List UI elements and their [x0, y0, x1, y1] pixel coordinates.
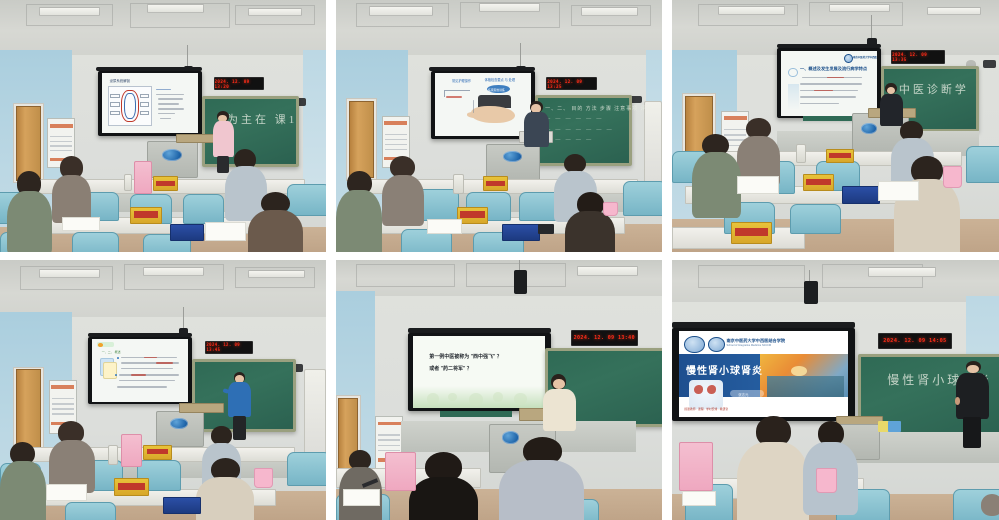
- classroom-scene-5: 第一例中医被称为 "西中强飞" ？ 或者 "药二将军" ？ 2024. 12. …: [336, 260, 662, 520]
- blue-notebook: [502, 224, 540, 241]
- projector: [804, 281, 817, 304]
- led-clock-4: 2024. 12. 09 13:45: [205, 341, 253, 355]
- led-clock-text: 2024. 12. 09 14:05: [883, 338, 946, 344]
- audience-person: [564, 192, 616, 252]
- water-bottle: [453, 174, 463, 194]
- photo-panel-4[interactable]: 一、二、 概述 2024. 12. 09 13:4: [0, 260, 326, 520]
- board-chalk-text-2: 一、二、 目的 方法 步骤 注意事项 评分: [545, 105, 652, 112]
- audience-person: [336, 171, 382, 252]
- slide-surface: 常见护理操作 体格检查要点 与 处理 临床思维训练: [435, 73, 531, 136]
- chair: [287, 452, 326, 485]
- led-clock-1: 2024. 12. 09 13:20: [214, 77, 265, 90]
- podium-desktop: [179, 403, 223, 413]
- audience-person: [737, 118, 780, 184]
- audience-person: [0, 442, 46, 520]
- projection-screen-2: 常见护理操作 体格检查要点 与 处理 临床思维训练: [431, 71, 535, 139]
- water-bottle: [796, 144, 806, 164]
- papers: [343, 489, 381, 507]
- pink-cup: [816, 468, 838, 493]
- air-conditioner: [644, 101, 662, 184]
- pink-tote-bag: [385, 452, 416, 490]
- stage-front-board: [440, 411, 512, 418]
- notebook: [682, 491, 717, 506]
- led-clock-text: 2024. 12. 09 13:45: [206, 342, 252, 352]
- projector-arm: [520, 43, 521, 68]
- led-clock-6: 2024. 12. 09 14:05: [878, 333, 952, 349]
- name-card: [130, 207, 161, 224]
- slide-speaker-text: 张志元: [738, 392, 748, 397]
- audience-person: [248, 192, 303, 252]
- projector-arm: [183, 307, 184, 330]
- photo-panel-5[interactable]: 第一例中医被称为 "西中强飞" ？ 或者 "药二将军" ？ 2024. 12. …: [336, 260, 662, 520]
- kidney-graphic: [689, 380, 723, 409]
- air-conditioner: [304, 369, 326, 454]
- papers: [62, 217, 100, 232]
- chair: [966, 146, 999, 183]
- podium-2: [486, 144, 540, 181]
- audience-person: [339, 450, 381, 520]
- audience-person: [196, 458, 255, 520]
- slide-question-line-1: 第一例中医被称为 "西中强飞" ？: [429, 353, 502, 360]
- name-card: [483, 176, 508, 191]
- slide-footer-text: 授课教师 · 课程 · 学时安排 · 教研室: [684, 407, 728, 411]
- slide-main-title: 慢性肾小球肾炎: [686, 362, 763, 377]
- papers: [427, 219, 462, 234]
- classroom-scene-3: 南京中医药大学中西医结合学院 一、概述及发生发展及流行病学特点 2024. 12…: [672, 0, 999, 252]
- classroom-door[interactable]: [16, 106, 41, 181]
- podium-emblem: [503, 151, 523, 162]
- board-chalk-text-3: 中医诊断学: [899, 81, 969, 97]
- speech-bubble: 临床思维训练: [487, 85, 510, 93]
- led-clock-5: 2024. 12. 09 13:40: [571, 330, 638, 346]
- chair: [183, 194, 224, 224]
- projector: [514, 270, 527, 293]
- slide-title-text-2: 常见护理操作: [452, 78, 471, 83]
- pink-tote-bag: [134, 161, 152, 193]
- name-card: [803, 174, 834, 191]
- audience-person: [692, 134, 741, 215]
- university-crest: [684, 336, 705, 353]
- classroom-scene-2: 常见护理操作 体格检查要点 与 处理 临床思维训练 2024. 12. 09 1…: [336, 0, 662, 252]
- projection-screen-5: 第一例中医被称为 "西中强飞" ？ 或者 "药二将军" ？: [408, 333, 551, 411]
- classroom-door[interactable]: [16, 369, 41, 449]
- papers: [46, 484, 87, 502]
- pink-tote-bag: [679, 442, 714, 491]
- led-clock-2: 2024. 12. 09 13:25: [546, 77, 597, 90]
- audience-person: [49, 421, 95, 491]
- pink-tote-bag: [121, 434, 143, 467]
- slide-subtitle-text-2: 体格检查要点 与 处理: [485, 77, 515, 82]
- classroom-scene-1: 泌尿系统解剖: [0, 0, 326, 252]
- blue-notebook: [842, 186, 880, 203]
- audience-person: [408, 452, 480, 520]
- slide-org-text: 南京中医药大学中西医结合学院: [853, 55, 877, 59]
- photo-panel-1[interactable]: 泌尿系统解剖: [0, 0, 326, 252]
- presenter-3: [878, 83, 904, 123]
- audience-person: [7, 171, 53, 252]
- led-clock-text: 2024. 12. 09 13:35: [892, 52, 944, 62]
- chair: [72, 232, 120, 252]
- photo-panel-2[interactable]: 常见护理操作 体格检查要点 与 处理 临床思维训练 2024. 12. 09 1…: [336, 0, 662, 252]
- slide-surface: 南京中医药大学中西医结合学院 School of Integrative Med…: [679, 331, 847, 417]
- presenter-5: [541, 374, 577, 426]
- podium-emblem: [170, 418, 188, 429]
- chair: [65, 502, 116, 520]
- water-bottle: [124, 174, 133, 191]
- name-card: [143, 445, 171, 460]
- name-card: [114, 478, 149, 496]
- papers: [205, 222, 246, 242]
- classroom-scene-4: 一、二、 概述 2024. 12. 09 13:4: [0, 260, 326, 520]
- name-card: [731, 222, 772, 244]
- photo-panel-6[interactable]: 南京中医药大学中西医结合学院 School of Integrative Med…: [672, 260, 999, 520]
- pink-cup: [254, 468, 272, 488]
- slide-title-text-3: 一、概述及发生发展及流行病学特点: [800, 66, 867, 72]
- papers: [878, 181, 919, 201]
- podium-emblem: [861, 123, 878, 134]
- side-wall-blue-right: [303, 50, 326, 196]
- slide-surface: 泌尿系统解剖: [102, 73, 198, 133]
- pink-cup: [603, 202, 618, 217]
- presenter-6: [953, 361, 992, 447]
- camera: [983, 60, 996, 68]
- projector-arm: [871, 15, 872, 40]
- projection-screen-3: 南京中医药大学中西医结合学院 一、概述及发生发展及流行病学特点: [777, 48, 882, 119]
- chair: [623, 181, 662, 216]
- blue-notebook: [170, 224, 205, 241]
- photo-grid: 泌尿系统解剖: [0, 0, 999, 512]
- pink-cup: [943, 166, 961, 188]
- audience-person: [737, 416, 809, 520]
- screen-roller: [672, 322, 855, 327]
- projection-screen-1: 泌尿系统解剖: [98, 71, 202, 137]
- audience-person: [52, 156, 91, 222]
- led-clock-text: 2024. 12. 09 13:20: [215, 79, 264, 89]
- led-clock-text: 2024. 12. 09 13:25: [547, 79, 596, 89]
- projector-arm: [187, 45, 188, 68]
- phone: [538, 224, 554, 234]
- photo-panel-3[interactable]: 南京中医药大学中西医结合学院 一、概述及发生发展及流行病学特点 2024. 12…: [672, 0, 999, 252]
- audience-person: [499, 437, 584, 520]
- classroom-scene-6: 南京中医药大学中西医结合学院 School of Integrative Med…: [672, 260, 999, 520]
- slide-title-text-1: 泌尿系统解剖: [110, 78, 130, 83]
- slide-callout-text: 临床思维训练: [488, 88, 505, 92]
- chair: [790, 204, 841, 234]
- ceiling: [336, 260, 662, 302]
- slide-section-text-4: 一、二、 概述: [102, 350, 121, 354]
- slide-surface: 第一例中医被称为 "西中强飞" ？ 或者 "药二将军" ？: [413, 336, 545, 408]
- led-clock-text: 2024. 12. 09 13:40: [574, 335, 635, 341]
- projection-screen-4: 一、二、 概述: [88, 337, 192, 405]
- university-crest: [844, 54, 853, 63]
- slide-question-line-2: 或者 "药二将军" ？: [429, 365, 472, 372]
- slide-surface: 南京中医药大学中西医结合学院 一、概述及发生发展及流行病学特点: [781, 51, 877, 116]
- projection-screen-6: 南京中医药大学中西医结合学院 School of Integrative Med…: [672, 328, 855, 422]
- presenter-2: [522, 101, 551, 146]
- podium-emblem: [162, 149, 182, 161]
- papers: [737, 176, 778, 193]
- led-clock-3: 2024. 12. 09 13:35: [891, 50, 945, 64]
- audience-person: [973, 494, 999, 520]
- name-card: [826, 149, 854, 164]
- name-card: [153, 176, 178, 191]
- slide-org-en-text: School of Integrative Medicine NJUCM: [726, 344, 771, 347]
- water-bottle: [108, 445, 118, 465]
- chalk-tray-items: [888, 421, 901, 431]
- school-crest: [708, 337, 725, 352]
- audience-person: [382, 156, 424, 224]
- slide-surface: 一、二、 概述: [92, 339, 188, 401]
- ceiling: [672, 260, 999, 307]
- podium-1: [147, 141, 198, 178]
- podium-4: [156, 411, 204, 447]
- classroom-door[interactable]: [349, 101, 374, 179]
- audience-person: [803, 421, 859, 509]
